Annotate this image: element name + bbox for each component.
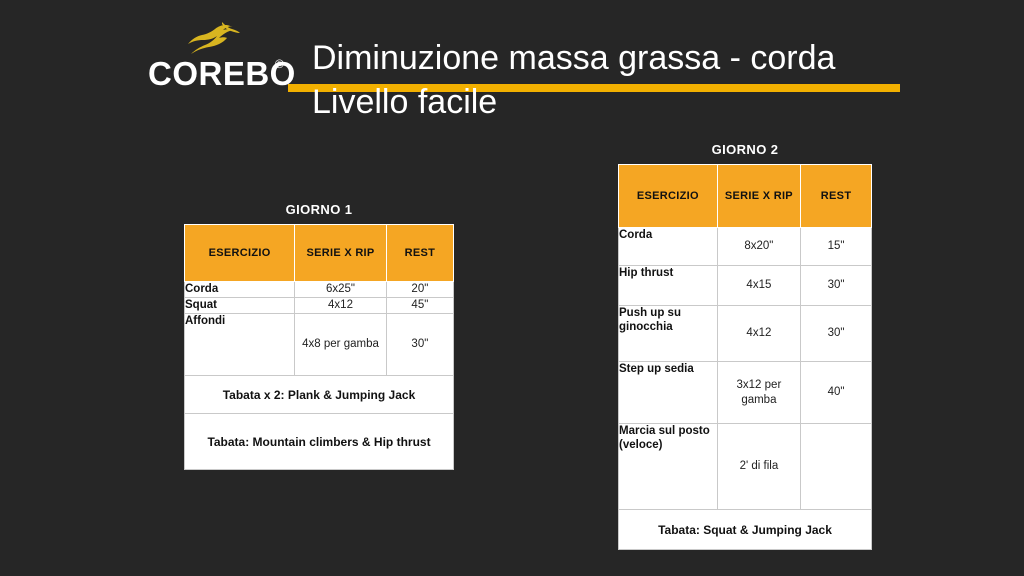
table-row: Squat 4x12 45" <box>185 298 454 314</box>
column-header-rest: REST <box>801 165 872 228</box>
table-header-row: ESERCIZIO SERIE X RIP REST <box>619 165 872 228</box>
exercise-name: Hip thrust <box>619 266 718 306</box>
table-row: Corda 6x25" 20" <box>185 282 454 298</box>
exercise-rest: 20" <box>386 282 453 298</box>
table-row: Affondi 4x8 per gamba 30" <box>185 314 454 376</box>
exercise-serie: 2' di fila <box>717 424 800 510</box>
exercise-serie: 4x15 <box>717 266 800 306</box>
running-figure-icon <box>186 22 242 56</box>
exercise-serie: 4x12 <box>295 298 386 314</box>
workout-table-day2: GIORNO 2 ESERCIZIO SERIE X RIP REST Cord… <box>618 142 872 550</box>
exercise-rest: 40" <box>801 362 872 424</box>
table-caption-day1: GIORNO 1 <box>184 202 454 217</box>
column-header-rest: REST <box>386 225 453 282</box>
table-row: Marcia sul posto (veloce) 2' di fila <box>619 424 872 510</box>
exercise-name: Push up su ginocchia <box>619 306 718 362</box>
tabata-note: Tabata: Squat & Jumping Jack <box>619 510 872 550</box>
exercise-serie: 8x20" <box>717 228 800 266</box>
exercise-rest: 30" <box>386 314 453 376</box>
table-footer-row: Tabata: Mountain climbers & Hip thrust <box>185 414 454 470</box>
brand-name: COREBO <box>148 56 296 92</box>
page-title-line-1: Diminuzione massa grassa - corda <box>312 36 952 80</box>
table-footer-row: Tabata x 2: Plank & Jumping Jack <box>185 376 454 414</box>
exercise-serie: 6x25" <box>295 282 386 298</box>
exercise-serie: 4x8 per gamba <box>295 314 386 376</box>
column-header-esercizio: ESERCIZIO <box>619 165 718 228</box>
table-row: Step up sedia 3x12 per gamba 40" <box>619 362 872 424</box>
table-row: Hip thrust 4x15 30" <box>619 266 872 306</box>
exercise-name: Corda <box>185 282 295 298</box>
tabata-note: Tabata x 2: Plank & Jumping Jack <box>185 376 454 414</box>
table-row: Push up su ginocchia 4x12 30" <box>619 306 872 362</box>
exercise-name: Affondi <box>185 314 295 376</box>
exercise-rest: 45" <box>386 298 453 314</box>
page-title-line-2: Livello facile <box>312 80 952 124</box>
table-footer-row: Tabata: Squat & Jumping Jack <box>619 510 872 550</box>
column-header-serie-x-rip: SERIE X RIP <box>717 165 800 228</box>
table-caption-day2: GIORNO 2 <box>618 142 872 157</box>
exercise-serie: 4x12 <box>717 306 800 362</box>
exercise-rest <box>801 424 872 510</box>
exercise-serie: 3x12 per gamba <box>717 362 800 424</box>
exercise-name: Corda <box>619 228 718 266</box>
slide-title: Diminuzione massa grassa - corda Livello… <box>312 36 952 124</box>
tabata-note: Tabata: Mountain climbers & Hip thrust <box>185 414 454 470</box>
exercise-rest: 30" <box>801 266 872 306</box>
exercise-name: Step up sedia <box>619 362 718 424</box>
table-header-row: ESERCIZIO SERIE X RIP REST <box>185 225 454 282</box>
exercise-name: Squat <box>185 298 295 314</box>
exercise-name: Marcia sul posto (veloce) <box>619 424 718 510</box>
exercise-rest: 30" <box>801 306 872 362</box>
column-header-serie-x-rip: SERIE X RIP <box>295 225 386 282</box>
slide-header: COREBO ® Diminuzione massa grassa - cord… <box>0 0 1024 130</box>
exercise-rest: 15" <box>801 228 872 266</box>
brand-logo: COREBO ® <box>148 22 308 92</box>
workout-table-day1: GIORNO 1 ESERCIZIO SERIE X RIP REST Cord… <box>184 202 454 470</box>
table-row: Corda 8x20" 15" <box>619 228 872 266</box>
column-header-esercizio: ESERCIZIO <box>185 225 295 282</box>
registered-trademark-symbol: ® <box>275 58 284 70</box>
